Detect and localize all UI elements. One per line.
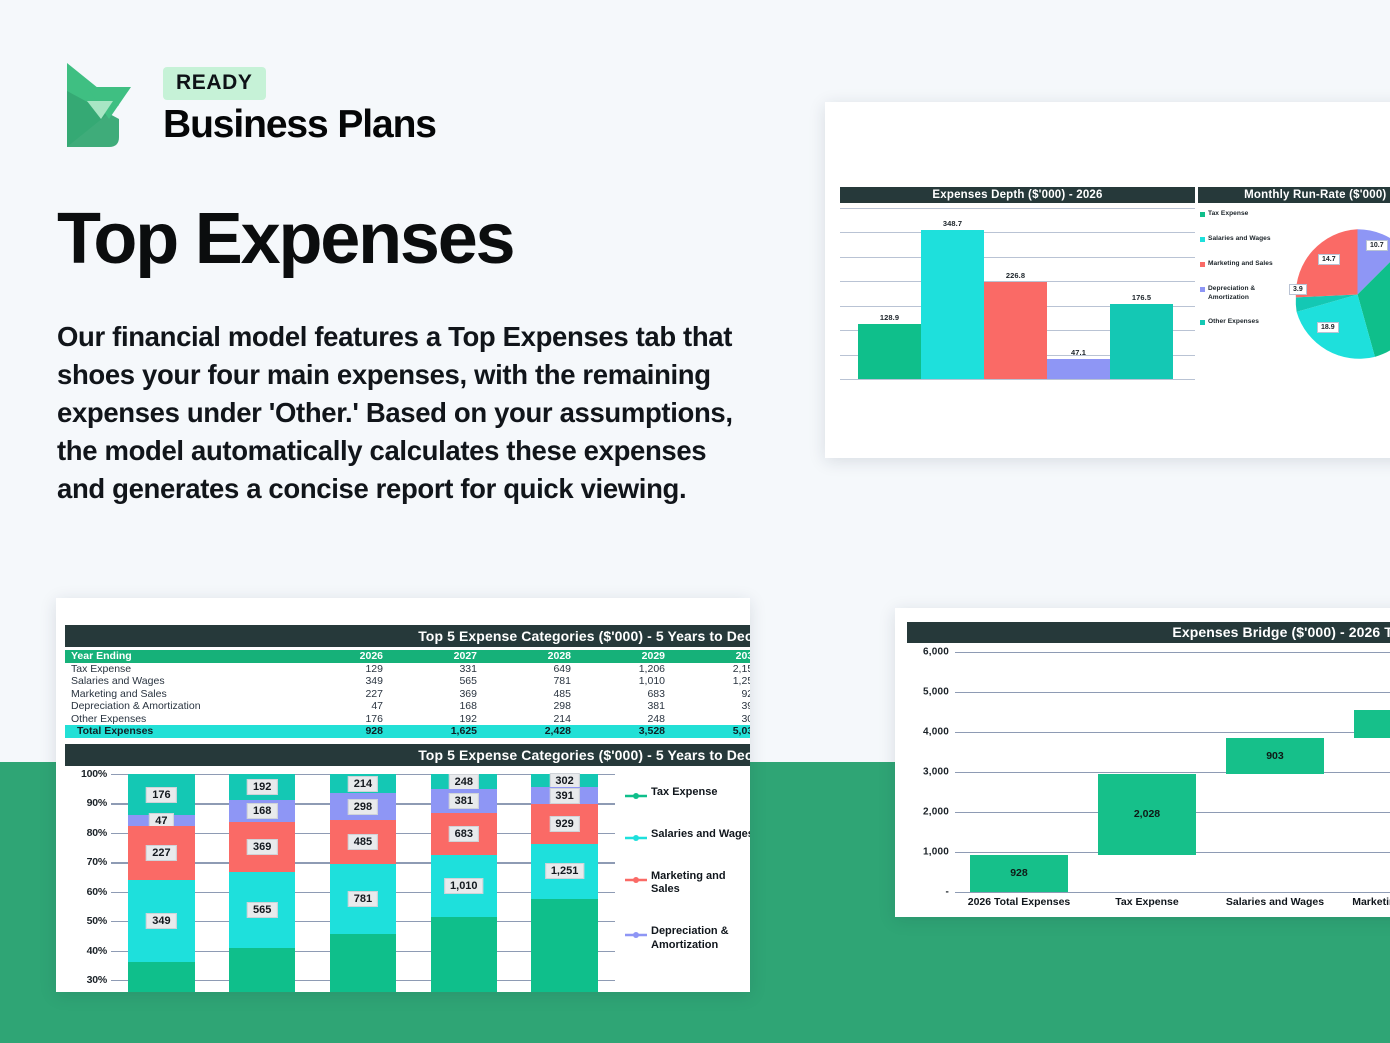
stack-y-axis: 100%90%80%70%60%50%40%30% (65, 774, 109, 964)
expense-table[interactable]: Year Ending20262027202820292030 Tax Expe… (65, 650, 750, 738)
bar-value-label: 176.5 (1110, 293, 1173, 302)
play-triangle-logo-icon (57, 57, 145, 153)
waterfall-bar: 2,028 (1098, 774, 1195, 855)
segment-value-label: 298 (348, 799, 378, 815)
segment-value-label: 381 (449, 793, 479, 809)
stack-segment: 1,010 (431, 855, 498, 917)
segment-value-label: 168 (247, 803, 277, 819)
pie-label-other: 3.9 (1289, 284, 1307, 295)
legend-swatch-icon (1200, 262, 1205, 267)
bridge-columns: 9282,028903702 (955, 652, 1390, 892)
table-cell-value: 928 (295, 725, 389, 738)
y-axis-tick-label: 6,000 (923, 647, 949, 658)
legend-swatch-icon (1200, 320, 1205, 325)
legend-item: Other Expenses (1200, 318, 1295, 327)
table-row: Depreciation & Amortization4716829838139… (65, 700, 750, 713)
table-cell-value: 649 (483, 663, 577, 676)
x-axis-tick-label: 2026 Total Expenses (955, 896, 1083, 908)
gridline (955, 892, 1390, 893)
stack-inner: 2483816831,010 (431, 774, 498, 992)
table-header-row: Year Ending20262027202820292030 (65, 650, 750, 663)
segment-value-label: 214 (348, 776, 378, 792)
expenses-depth-header-row: Expenses Depth ($'000) - 2026 Monthly Ru… (840, 187, 1390, 203)
segment-value-label: 683 (449, 826, 479, 842)
bar-value-label: 226.8 (984, 271, 1047, 280)
stack-segment: 302 (531, 774, 598, 787)
stack-segment: 248 (431, 774, 498, 789)
stack-segment: 929 (531, 804, 598, 844)
legend-label: Other Expenses (1208, 318, 1259, 327)
legend-label: Depreciation & Amortization (1208, 285, 1295, 303)
table-column-header: 2029 (577, 650, 671, 663)
legend-line-marker-icon (625, 788, 647, 798)
bar-column: 348.7 (921, 208, 984, 379)
table-cell-label: Other Expenses (65, 713, 295, 726)
bar: 176.5 (1110, 304, 1173, 379)
stack-segment: 381 (431, 789, 498, 813)
expenses-bridge-waterfall-chart: 6,0005,0004,0003,0002,0001,000- 9282,028… (907, 652, 1390, 917)
y-axis-tick-label: 1,000 (923, 847, 949, 858)
waterfall-value-label: 2,028 (1134, 808, 1160, 820)
stack-segment: 485 (330, 820, 397, 864)
legend-label: Depreciation & Amortization (651, 925, 750, 953)
table-cell-value: 214 (483, 713, 577, 726)
table-cell-value: 298 (483, 700, 577, 713)
table-row: Salaries and Wages3495657811,0101,251 (65, 675, 750, 688)
table-cell-value: 369 (389, 688, 483, 701)
stack-columns: 1764722734919216836956521429848578124838… (111, 774, 615, 992)
brand-name: Business Plans (163, 105, 436, 144)
table-row: Marketing and Sales227369485683929 (65, 688, 750, 701)
bar-series: 128.9348.7226.847.1176.5 (858, 208, 1173, 379)
y-axis-tick-label: 5,000 (923, 687, 949, 698)
bridge-header: Expenses Bridge ($'000) - 2026 Total Exp… (907, 622, 1390, 643)
top5-expense-categories-panel[interactable]: Top 5 Expense Categories ($'000) - 5 Yea… (56, 598, 750, 992)
stack-segment: 298 (330, 793, 397, 820)
table-row: Other Expenses176192214248302 (65, 713, 750, 726)
legend-swatch-icon (1200, 287, 1205, 292)
stack-segment: 391 (531, 787, 598, 804)
legend-swatch-icon (1200, 237, 1205, 242)
y-axis-tick-label: 100% (81, 768, 107, 780)
y-axis-tick-label: 3,000 (923, 767, 949, 778)
segment-value-label: 1,251 (545, 863, 585, 879)
expenses-depth-panel[interactable]: Expenses Depth ($'000) - 2026 Monthly Ru… (825, 102, 1390, 458)
legend-item: Salaries and Wages (625, 828, 750, 842)
top5-stack-header: Top 5 Expense Categories ($'000) - 5 Yea… (65, 744, 750, 766)
y-axis-tick-label: 2,000 (923, 807, 949, 818)
bar-column: 226.8 (984, 208, 1047, 379)
legend-label: Salaries and Wages (651, 828, 750, 842)
table-cell-value: 1,010 (577, 675, 671, 688)
table-cell-value: 331 (389, 663, 483, 676)
bar: 348.7 (921, 230, 984, 379)
bridge-x-axis: 2026 Total ExpensesTax ExpenseSalaries a… (955, 896, 1390, 908)
table-cell-value: 5,030 (671, 725, 750, 738)
stack-segment: 168 (229, 800, 296, 823)
table-cell-label: Total Expenses (65, 725, 295, 738)
table-cell-value: 485 (483, 688, 577, 701)
stack-segment: 683 (431, 813, 498, 855)
legend-item: Depreciation & Amortization (625, 925, 750, 953)
table-cell-value: 129 (295, 663, 389, 676)
expenses-depth-bar-chart: 128.9348.7226.847.1176.5 (840, 208, 1195, 380)
y-axis-tick-label: 30% (87, 974, 107, 986)
table-cell-label: Tax Expense (65, 663, 295, 676)
page-description: Our financial model features a Top Expen… (57, 318, 757, 508)
y-axis-tick-label: 80% (87, 827, 107, 839)
table-cell-value: 2,157 (671, 663, 750, 676)
table-cell-value: 227 (295, 688, 389, 701)
stack-segment: 214 (330, 774, 397, 793)
stack-segment (330, 934, 397, 992)
table-cell-value: 47 (295, 700, 389, 713)
stack-segment: 227 (128, 826, 195, 879)
top5-stacked-column-chart: 100%90%80%70%60%50%40%30% 17647227349192… (65, 774, 750, 992)
legend-label: Tax Expense (1208, 210, 1248, 219)
stacked-column: 3023919291,251 (514, 774, 615, 992)
table-cell-value: 3,528 (577, 725, 671, 738)
waterfall-column: 903 (1211, 652, 1339, 892)
y-axis-tick-label: 50% (87, 915, 107, 927)
table-column-header: 2026 (295, 650, 389, 663)
expenses-depth-title: Expenses Depth ($'000) - 2026 (840, 187, 1195, 203)
stack-segment: 565 (229, 872, 296, 948)
stacked-column: 192168369565 (212, 774, 313, 992)
table-row: Tax Expense1293316491,2062,157 (65, 663, 750, 676)
stack-inner: 17647227349 (128, 774, 195, 992)
pie-label-salaries: 18.9 (1317, 322, 1339, 333)
expenses-depth-legend: Tax ExpenseSalaries and WagesMarketing a… (1200, 210, 1295, 343)
table-cell-value: 381 (577, 700, 671, 713)
stacked-column: 17647227349 (111, 774, 212, 992)
table-cell-value: 565 (389, 675, 483, 688)
bridge-title: Expenses Bridge ($'000) - 2026 Total Exp… (907, 622, 1390, 643)
bridge-y-axis: 6,0005,0004,0003,0002,0001,000- (907, 652, 951, 892)
monthly-runrate-title: Monthly Run-Rate ($'000) - (1198, 187, 1390, 203)
expenses-bridge-panel[interactable]: Expenses Bridge ($'000) - 2026 Total Exp… (895, 608, 1390, 917)
stack-segment: 1,251 (531, 844, 598, 898)
legend-label: Salaries and Wages (1208, 235, 1271, 244)
stack-inner: 192168369565 (229, 774, 296, 992)
stack-segment (431, 917, 498, 992)
table-column-header: 2028 (483, 650, 577, 663)
brand-logo[interactable]: READY Business Plans (57, 57, 436, 153)
table-column-header: 2027 (389, 650, 483, 663)
table-cell-value: 1,206 (577, 663, 671, 676)
table-cell-value: 1,625 (389, 725, 483, 738)
x-axis-tick-label: Tax Expense (1083, 896, 1211, 908)
bar-column: 128.9 (858, 208, 921, 379)
top5-table-title: Top 5 Expense Categories ($'000) - 5 Yea… (65, 625, 750, 647)
stack-inner: 3023919291,251 (531, 774, 598, 992)
bar: 128.9 (858, 324, 921, 379)
segment-value-label: 248 (449, 774, 479, 790)
waterfall-value-label: 903 (1266, 750, 1284, 762)
stack-segment: 176 (128, 774, 195, 815)
x-axis-tick-label: Salaries and Wages (1211, 896, 1339, 908)
table-cell-value: 248 (577, 713, 671, 726)
table-column-header: 2030 (671, 650, 750, 663)
legend-line-marker-icon (625, 927, 647, 937)
segment-value-label: 227 (146, 845, 176, 861)
stack-segment (229, 948, 296, 992)
legend-item: Depreciation & Amortization (1200, 285, 1295, 303)
top5-table-header: Top 5 Expense Categories ($'000) - 5 Yea… (65, 625, 750, 647)
pie-label-marketing: 14.7 (1318, 254, 1340, 265)
bar-value-label: 348.7 (921, 219, 984, 228)
table-cell-value: 929 (671, 688, 750, 701)
x-axis-tick-label: Marketing and Sales (1339, 896, 1390, 908)
legend-item: Salaries and Wages (1200, 235, 1295, 244)
table-cell-value: 683 (577, 688, 671, 701)
stack-segment: 192 (229, 774, 296, 800)
waterfall-value-label: 928 (1010, 867, 1028, 879)
stack-segment (128, 962, 195, 992)
stack-legend: Tax ExpenseSalaries and WagesMarketing a… (625, 786, 750, 981)
page-title: Top Expenses (57, 203, 513, 275)
bar-column: 47.1 (1047, 208, 1110, 379)
legend-label: Marketing and Sales (651, 870, 750, 898)
segment-value-label: 192 (247, 779, 277, 795)
segment-value-label: 369 (247, 839, 277, 855)
y-axis-tick-label: 90% (87, 797, 107, 809)
legend-label: Marketing and Sales (1208, 260, 1273, 269)
segment-value-label: 781 (348, 891, 378, 907)
stack-segment: 349 (128, 880, 195, 962)
stack-segment: 369 (229, 822, 296, 872)
segment-value-label: 565 (247, 902, 277, 918)
pie-label-depreciation: 10.7 (1366, 240, 1388, 251)
legend-swatch-icon (1200, 212, 1205, 217)
waterfall-column: 2,028 (1083, 652, 1211, 892)
stack-segment: 781 (330, 864, 397, 934)
stack-segment: 47 (128, 815, 195, 826)
table-body: Tax Expense1293316491,2062,157Salaries a… (65, 663, 750, 738)
legend-item: Tax Expense (1200, 210, 1295, 219)
waterfall-bar: 928 (970, 855, 1067, 892)
legend-line-marker-icon (625, 830, 647, 840)
table-cell-label: Salaries and Wages (65, 675, 295, 688)
segment-value-label: 176 (146, 787, 176, 803)
legend-item: Marketing and Sales (1200, 260, 1295, 269)
stacked-column: 2483816831,010 (413, 774, 514, 992)
table-cell-value: 302 (671, 713, 750, 726)
bar: 226.8 (984, 282, 1047, 379)
table-column-header: Year Ending (65, 650, 295, 663)
waterfall-column: 702 (1339, 652, 1390, 892)
table-cell-value: 781 (483, 675, 577, 688)
waterfall-column: 928 (955, 652, 1083, 892)
stack-inner: 214298485781 (330, 774, 397, 992)
table-cell-label: Marketing and Sales (65, 688, 295, 701)
table-cell-value: 349 (295, 675, 389, 688)
bar-value-label: 47.1 (1047, 348, 1110, 357)
segment-value-label: 391 (549, 788, 579, 804)
y-axis-tick-label: - (945, 887, 949, 898)
segment-value-label: 929 (549, 816, 579, 832)
table-cell-value: 1,251 (671, 675, 750, 688)
table-cell-value: 2,428 (483, 725, 577, 738)
stacked-column: 214298485781 (313, 774, 414, 992)
table-cell-value: 168 (389, 700, 483, 713)
table-cell-value: 391 (671, 700, 750, 713)
waterfall-bar: 702 (1354, 710, 1390, 738)
legend-item: Tax Expense (625, 786, 750, 800)
ready-badge: READY (163, 67, 266, 100)
y-axis-tick-label: 60% (87, 886, 107, 898)
segment-value-label: 485 (348, 834, 378, 850)
bridge-plot-area: 9282,028903702 (955, 652, 1390, 892)
stack-plot-area: 1764722734919216836956521429848578124838… (111, 774, 615, 992)
bar: 47.1 (1047, 359, 1110, 379)
y-axis-tick-label: 70% (87, 856, 107, 868)
legend-line-marker-icon (625, 872, 647, 882)
segment-value-label: 1,010 (444, 878, 484, 894)
waterfall-bar: 903 (1226, 738, 1323, 774)
bar-column: 176.5 (1110, 208, 1173, 379)
table-cell-value: 176 (295, 713, 389, 726)
stack-segment (531, 899, 598, 993)
segment-value-label: 349 (146, 913, 176, 929)
legend-item: Marketing and Sales (625, 870, 750, 898)
bar-value-label: 128.9 (858, 313, 921, 322)
top5-stack-title: Top 5 Expense Categories ($'000) - 5 Yea… (65, 744, 750, 766)
y-axis-tick-label: 40% (87, 945, 107, 957)
table-cell-value: 192 (389, 713, 483, 726)
y-axis-tick-label: 4,000 (923, 727, 949, 738)
monthly-runrate-pie-chart: 10.7 14.7 3.9 18.9 (1285, 222, 1390, 367)
table-cell-label: Depreciation & Amortization (65, 700, 295, 713)
table-total-row: Total Expenses9281,6252,4283,5285,030 (65, 725, 750, 738)
legend-label: Tax Expense (651, 786, 717, 800)
